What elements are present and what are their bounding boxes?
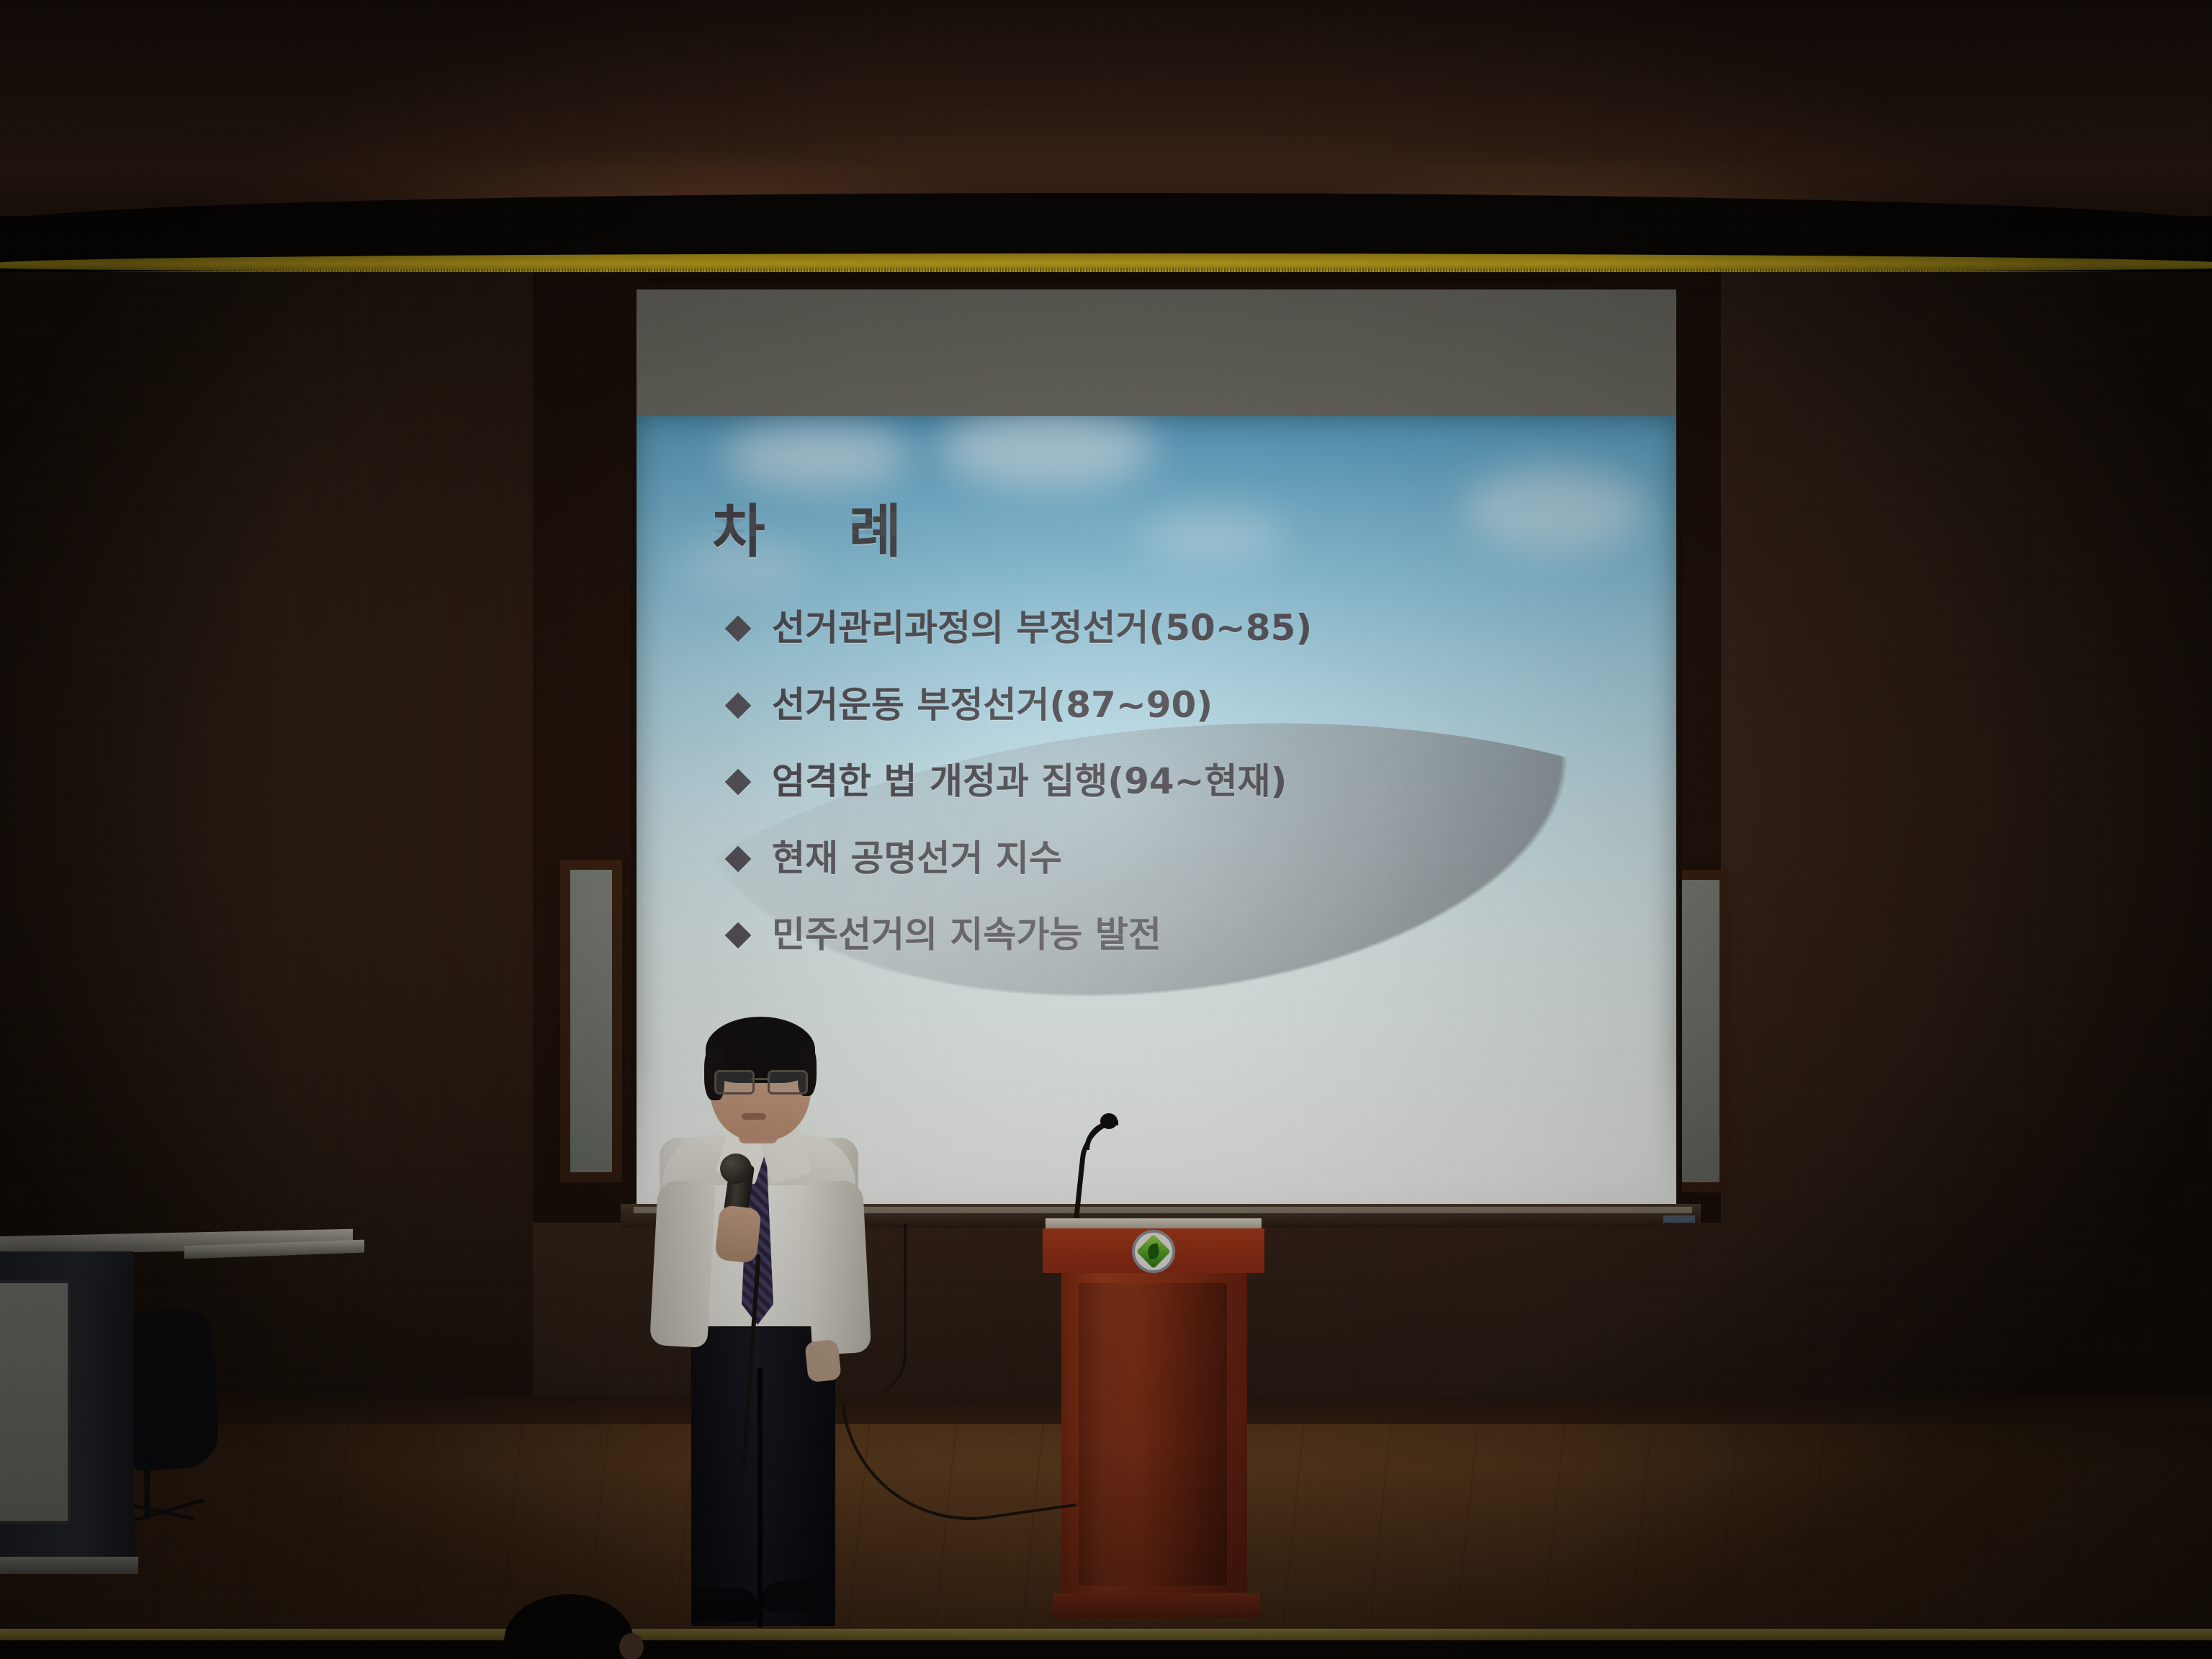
speaker-leg-separation <box>757 1368 763 1627</box>
stage-front-face <box>0 1640 2212 1659</box>
diamond-bullet-icon <box>725 769 752 796</box>
glasses-lens-right <box>768 1070 808 1094</box>
cloud-icon <box>1465 467 1645 553</box>
list-item: 엄격한 법 개정과 집행(94~현재) <box>729 763 1593 801</box>
glasses-icon <box>714 1070 806 1092</box>
slide-title-reflection: 차 례 <box>712 507 933 544</box>
list-item: 선거관리과정의 부정선거(50~85) <box>729 609 1593 647</box>
av-console-base <box>0 1557 138 1574</box>
cloud-icon <box>1141 510 1285 560</box>
podium-base <box>1053 1593 1260 1617</box>
screen-indicator <box>1663 1215 1695 1223</box>
speaker-arm-left <box>649 1179 716 1348</box>
diamond-bullet-icon <box>725 616 752 642</box>
speaker-mouth <box>742 1113 766 1120</box>
speaker-arm-right <box>804 1179 871 1355</box>
speaker-hand-left <box>714 1205 762 1264</box>
diamond-bullet-icon <box>725 845 752 872</box>
diamond-bullet-icon <box>725 922 752 949</box>
av-console-panel <box>0 1280 71 1524</box>
cloud-icon <box>723 423 910 488</box>
list-item: 민주선거의 지속가능 발전 <box>729 916 1593 954</box>
slide-bullet-list: 선거관리과정의 부정선거(50~85) 선거운동 부정선거(87~90) 엄격한… <box>729 609 1593 993</box>
podium-front-inset <box>1079 1283 1227 1586</box>
handheld-microphone-head-icon <box>720 1154 752 1184</box>
speaker-shoe-left <box>693 1588 759 1622</box>
stage-edge-trim <box>0 1629 2212 1640</box>
microphone-capsule-icon <box>1100 1113 1118 1129</box>
audience-ear <box>619 1633 644 1659</box>
list-item: 현재 공명선거 지수 <box>729 840 1593 878</box>
bullet-text: 엄격한 법 개정과 집행(94~현재) <box>772 763 1287 801</box>
glasses-bridge <box>752 1078 768 1080</box>
speaker-hand-right <box>804 1339 842 1383</box>
bullet-text: 민주선거의 지속가능 발전 <box>772 916 1161 954</box>
diamond-bullet-icon <box>725 692 752 719</box>
bullet-text: 선거관리과정의 부정선거(50~85) <box>772 609 1312 647</box>
list-item: 선거운동 부정선거(87~90) <box>729 686 1593 724</box>
bullet-text: 선거운동 부정선거(87~90) <box>772 686 1213 724</box>
photo-scene: 차 례 차 례 선거관리과정의 부정선거(50~85) 선거운동 부정선거(87… <box>0 0 2212 1659</box>
cloud-icon <box>939 416 1155 488</box>
glasses-lens-left <box>714 1070 755 1094</box>
podium-emblem <box>1135 1233 1172 1270</box>
speaker-shoe-right <box>762 1581 828 1611</box>
bullet-text: 현재 공명선거 지수 <box>772 840 1062 878</box>
chair-backrest <box>125 1308 220 1471</box>
